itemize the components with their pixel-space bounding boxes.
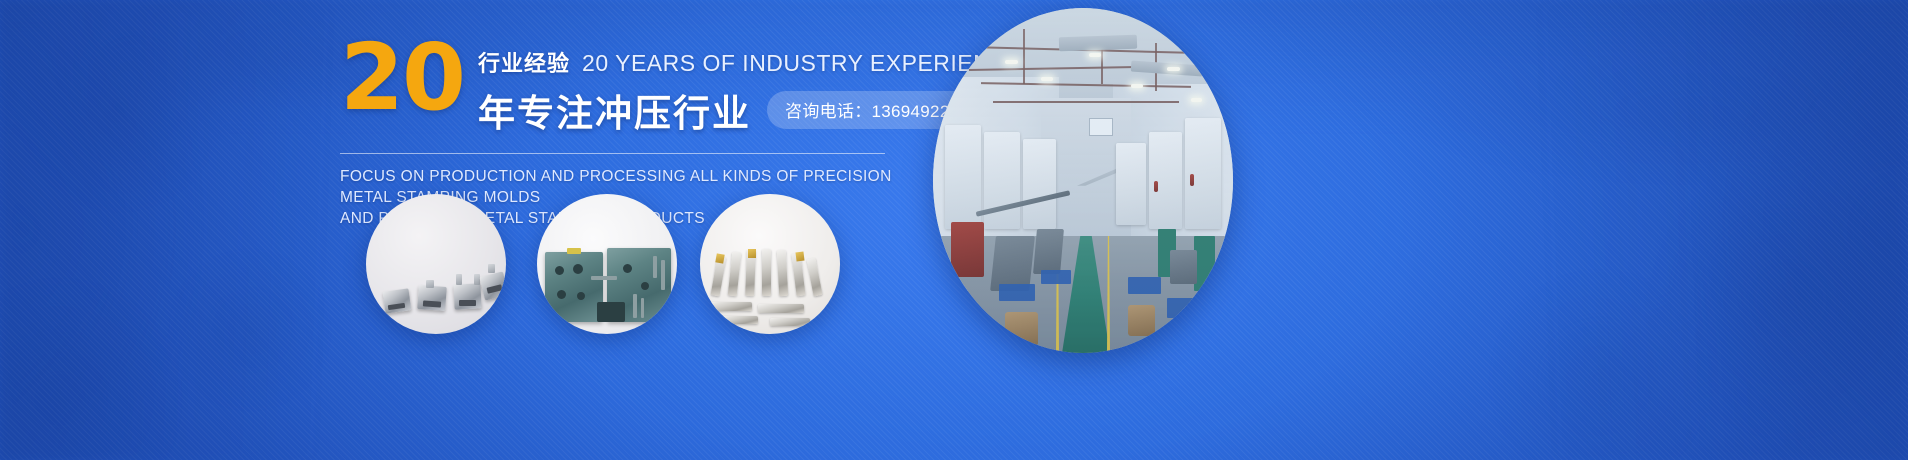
mold-cavity [597,302,625,322]
terminal-gold-tip [748,249,756,258]
terminal-pin [728,252,742,297]
terminal-strip [710,302,752,311]
connector-shell [383,288,412,313]
terminal-strip [770,318,810,326]
connector-slot [423,300,441,307]
cn-tagline-small: 行业经验 [478,46,570,78]
mold-pin [641,298,644,318]
years-number: 20 [340,40,464,115]
connector-tab [488,264,495,273]
connector-tab [456,274,462,285]
mold-hole [641,282,649,290]
mold-plate-left [545,252,603,322]
mold-hole [577,292,585,300]
mold-marker [567,248,581,254]
terminal-strip [722,316,758,324]
mold-hole [623,264,632,273]
headline-divider [340,153,885,154]
mold-pin [653,256,657,278]
terminal-gold-tip [715,253,724,263]
factory-scene [933,8,1233,353]
headline-row: 20 行业经验 20 YEARS OF INDUSTRY EXPERIENCE … [340,36,920,137]
product-circle-terminals[interactable] [700,194,840,334]
mold-pin [633,294,637,318]
terminal-pin [777,250,788,296]
mold-hole [555,266,564,275]
terminal-pin [762,249,771,296]
mold-pin [661,260,665,290]
terminal-pin [806,257,822,296]
promo-banner: 20 行业经验 20 YEARS OF INDUSTRY EXPERIENCE … [0,0,1908,460]
cn-tagline-big: 年专注冲压行业 [478,83,751,137]
mold-pin [591,276,617,280]
mold-hole [557,290,566,299]
factory-photo-circle[interactable] [933,8,1233,353]
product-circle-molds[interactable] [537,194,677,334]
product-circle-connectors[interactable] [366,194,506,334]
photo-color-tint [933,8,1233,353]
connector-tab [426,280,434,288]
mold-hole [573,264,583,274]
connector-slot [459,300,476,306]
terminal-strip [758,304,804,313]
terminal-gold-tip [795,252,804,262]
